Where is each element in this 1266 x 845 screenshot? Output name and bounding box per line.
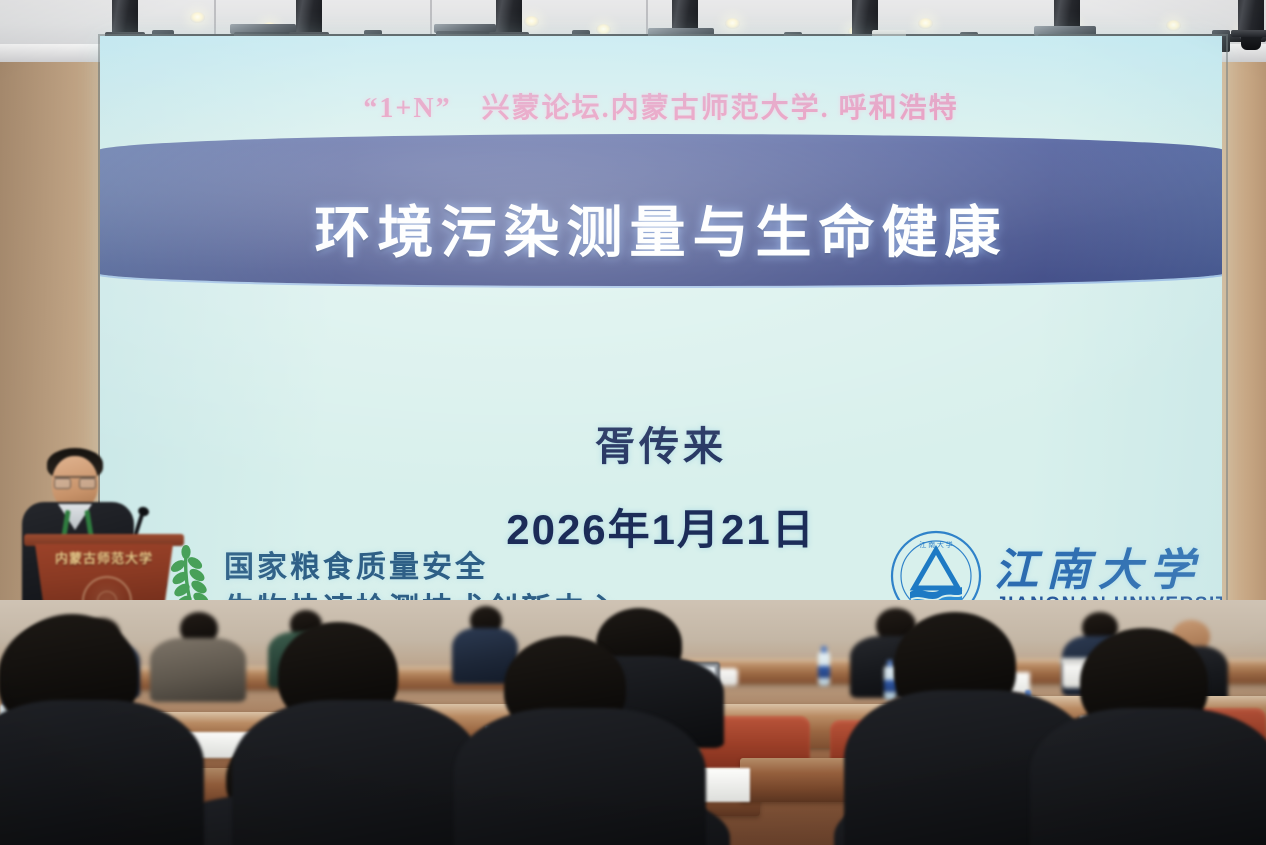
screen-frame [98, 34, 1228, 646]
ceiling-downlight [524, 16, 539, 27]
ceiling-downlight [918, 18, 933, 29]
foreground-attendee [0, 600, 190, 845]
ceiling-downlight [725, 18, 740, 29]
ceiling-downlight [190, 12, 205, 23]
lectern-inscription: 内蒙古师范大学 [24, 548, 184, 567]
presenter-glasses [54, 476, 96, 487]
ceiling-downlight [1166, 20, 1181, 31]
foreground-attendee [1040, 628, 1266, 845]
foreground-attendee [252, 622, 452, 845]
conference-hall-photo: “1+N” 兴蒙论坛.内蒙古师范大学. 呼和浩特 环境污染测量与生命健康 胥传来… [0, 0, 1266, 845]
foreground-attendee [470, 636, 680, 845]
water-bottle [818, 652, 830, 686]
